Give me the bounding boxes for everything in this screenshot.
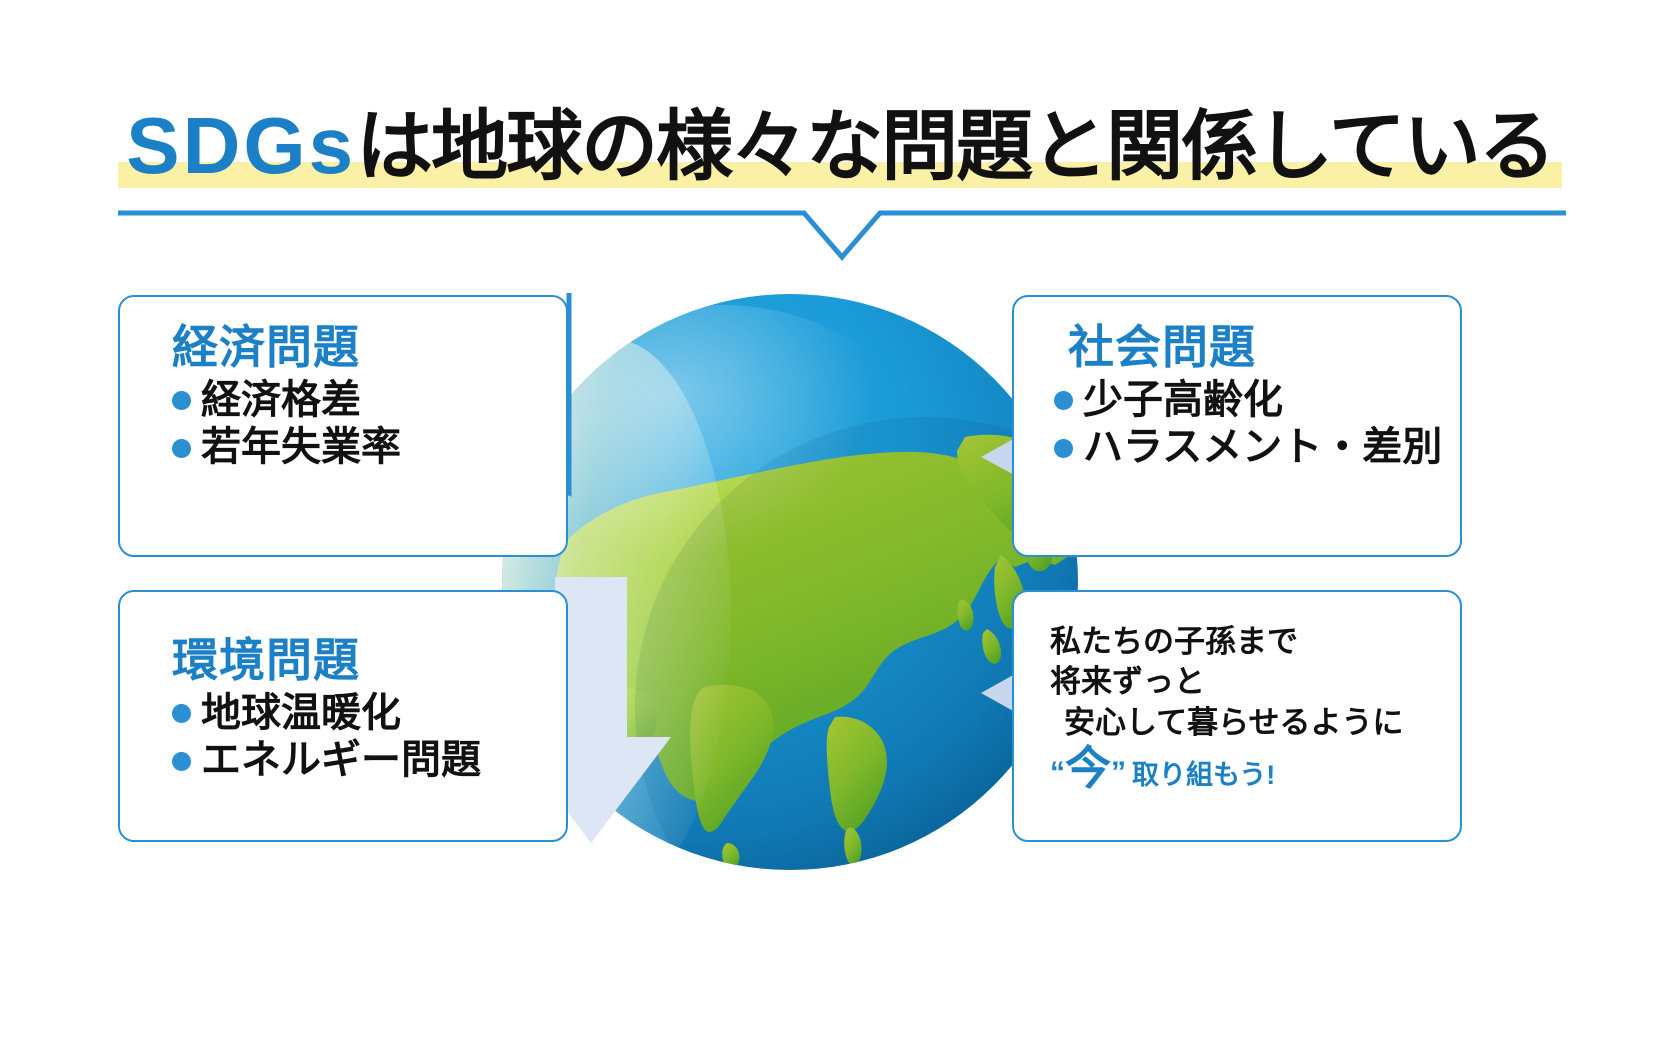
divider-icon bbox=[118, 205, 1566, 265]
bullet-dot-icon bbox=[172, 704, 191, 723]
list-item-label: ハラスメント・差別 bbox=[1083, 424, 1442, 471]
cta-close-quote: ” bbox=[1111, 758, 1126, 788]
cta-rest-text: 取り組もう! bbox=[1132, 762, 1275, 789]
list-item: 地球温暖化 bbox=[172, 690, 536, 737]
action-line-2: 将来ずっと bbox=[1050, 662, 1440, 702]
globe-illustration bbox=[495, 287, 1085, 877]
card-environment-heading: 環境問題 bbox=[172, 636, 536, 684]
title-rest: は地球の様々な問題と関係している bbox=[356, 104, 1554, 190]
list-item-label: 少子高齢化 bbox=[1083, 377, 1283, 424]
infographic-canvas: SDGsは地球の様々な問題と関係している bbox=[0, 0, 1680, 1048]
list-item: 少子高齢化 bbox=[1054, 377, 1430, 424]
list-item: 若年失業率 bbox=[172, 424, 536, 471]
bullet-dot-icon bbox=[172, 391, 191, 410]
earth-globe-icon bbox=[495, 287, 1085, 877]
card-action: 私たちの子孫まで 将来ずっと 安心して暮らせるように “ 今 ” 取り組もう! bbox=[1012, 590, 1462, 842]
bullet-dot-icon bbox=[172, 752, 191, 771]
divider-with-notch bbox=[118, 205, 1566, 265]
list-item: 経済格差 bbox=[172, 377, 536, 424]
action-line-3: 安心して暮らせるように bbox=[1050, 703, 1440, 743]
card-economy-bullet-list: 経済格差 若年失業率 bbox=[172, 377, 536, 471]
card-environment: 環境問題 地球温暖化 エネルギー問題 bbox=[118, 590, 568, 842]
page-title: SDGsは地球の様々な問題と関係している bbox=[0, 86, 1680, 186]
list-item-label: 地球温暖化 bbox=[201, 690, 401, 737]
list-item-label: 若年失業率 bbox=[201, 424, 401, 471]
card-environment-bullet-list: 地球温暖化 エネルギー問題 bbox=[172, 690, 536, 784]
card-economy: 経済問題 経済格差 若年失業率 bbox=[118, 295, 568, 557]
list-item-label: エネルギー問題 bbox=[201, 737, 481, 784]
cta-open-quote: “ bbox=[1050, 758, 1065, 788]
action-line-1: 私たちの子孫まで bbox=[1050, 622, 1440, 662]
card-society-heading: 社会問題 bbox=[1054, 323, 1430, 371]
list-item: ハラスメント・差別 bbox=[1054, 424, 1430, 471]
cta-now-word: 今 bbox=[1065, 745, 1111, 791]
card-society-bullet-list: 少子高齢化 ハラスメント・差別 bbox=[1054, 377, 1430, 471]
bullet-dot-icon bbox=[172, 439, 191, 458]
action-cta: “ 今 ” 取り組もう! bbox=[1050, 745, 1440, 791]
bullet-dot-icon bbox=[1054, 439, 1073, 458]
title-accent: SDGs bbox=[126, 101, 356, 190]
card-society: 社会問題 少子高齢化 ハラスメント・差別 bbox=[1012, 295, 1462, 557]
list-item-label: 経済格差 bbox=[201, 377, 361, 424]
card-economy-heading: 経済問題 bbox=[172, 323, 536, 371]
list-item: エネルギー問題 bbox=[172, 737, 536, 784]
bullet-dot-icon bbox=[1054, 391, 1073, 410]
